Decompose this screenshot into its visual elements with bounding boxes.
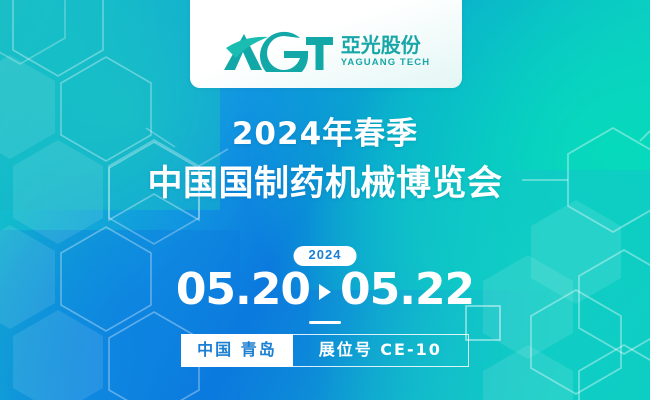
agt-logo-icon: [222, 30, 334, 72]
title-block: 2024年春季 中国国制药机械博览会: [0, 118, 650, 202]
exhibition-banner: 亞光股份 YAGUANG TECH 2024年春季 中国国制药机械博览会 202…: [0, 0, 650, 400]
date-end: 05.22: [340, 268, 474, 312]
logo-card: 亞光股份 YAGUANG TECH: [190, 0, 462, 88]
year-badge: 2024: [294, 246, 357, 266]
background-glow-bottom-left: [0, 230, 240, 400]
booth-number-box: 展位号 CE-10: [293, 334, 469, 367]
title-line-1: 2024年春季: [0, 118, 650, 151]
logo-company-cn: 亞光股份: [341, 35, 421, 55]
date-range: 05.20 05.22: [0, 268, 650, 312]
location-box: 中国 青岛: [181, 334, 293, 367]
triangle-right-icon: [319, 284, 331, 300]
footer-bar: 中国 青岛 展位号 CE-10: [0, 334, 650, 367]
title-line-2: 中国国制药机械博览会: [0, 166, 650, 203]
date-start: 05.20: [176, 268, 310, 312]
logo-company-en: YAGUANG TECH: [341, 58, 430, 68]
logo-wordmark: 亞光股份 YAGUANG TECH: [341, 35, 430, 68]
date-underline: [309, 321, 341, 324]
logo-lockup: 亞光股份 YAGUANG TECH: [222, 30, 430, 72]
